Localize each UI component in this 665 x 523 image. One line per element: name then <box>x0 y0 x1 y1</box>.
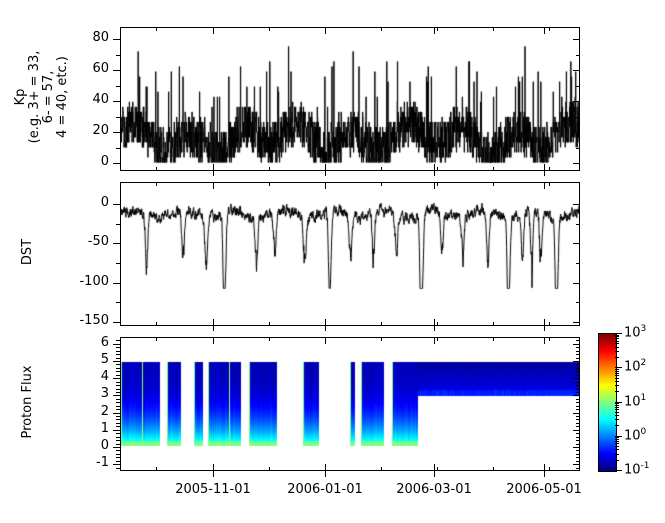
y-tick-label: -100 <box>0 274 109 289</box>
y-tick-label: -50 <box>0 234 109 249</box>
y-tick-label: -1 <box>0 455 109 470</box>
y-axis-label-line: 6- = 57, <box>42 0 56 199</box>
kp-series-plot <box>121 28 579 170</box>
y-axis-label-line: Proton Flux <box>21 305 35 499</box>
space-weather-figure: 020406080 Kp(e.g. 3+ = 33,6- = 57,4 = 40… <box>0 0 665 523</box>
y-tick-label: 0 <box>0 195 109 210</box>
colorbar-tick-label: 101 <box>624 393 646 409</box>
y-tick-label: 4 <box>0 369 109 384</box>
y-tick-label: 0 <box>0 438 109 453</box>
proton-flux-heatmap <box>121 338 579 470</box>
colorbar-tick-label: 102 <box>624 358 646 374</box>
y-tick-label: 1 <box>0 421 109 436</box>
x-tick-label: 2006-01-01 <box>279 482 371 497</box>
y-tick-label: 2 <box>0 404 109 419</box>
colorbar-tick-label: 10-1 <box>624 461 650 477</box>
y-tick-label: 3 <box>0 386 109 401</box>
colorbar-tick-label: 100 <box>624 427 646 443</box>
x-tick-label: 2006-03-01 <box>388 482 480 497</box>
x-tick-label: 2005-11-01 <box>167 482 259 497</box>
colorbar-tick-label: 103 <box>624 324 646 340</box>
x-tick-label: 2006-05-01 <box>498 482 590 497</box>
y-axis-label-line: 4 = 40, etc.) <box>56 0 70 199</box>
y-tick-label: 6 <box>0 335 109 350</box>
y-tick-label: 5 <box>0 352 109 367</box>
y-tick-label: -150 <box>0 313 109 328</box>
dst-series-plot <box>121 183 579 325</box>
